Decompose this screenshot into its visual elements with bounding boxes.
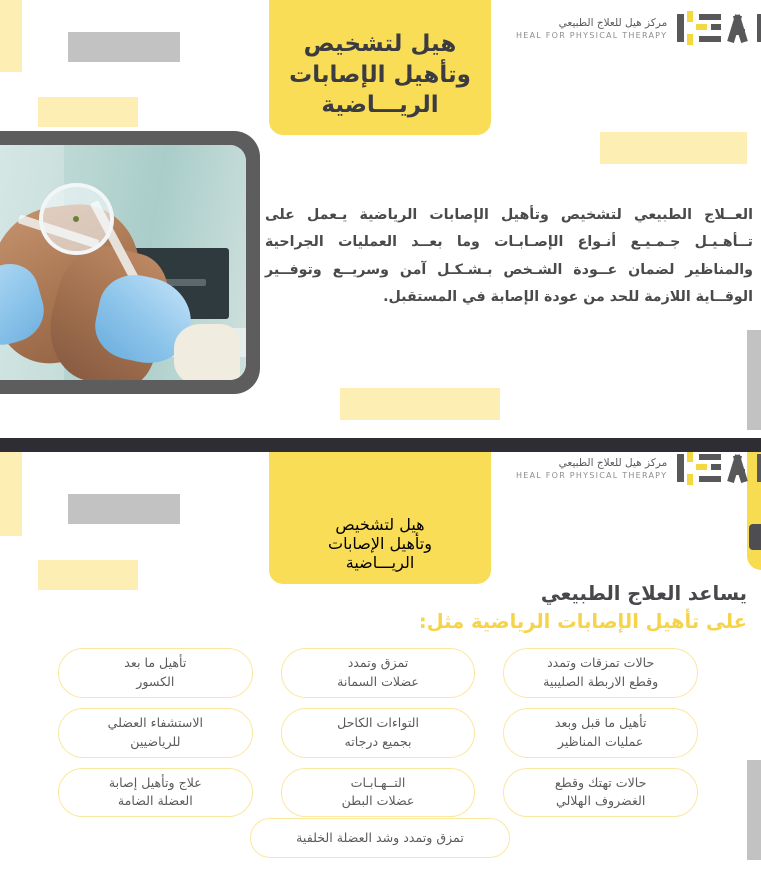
title-2-line-2: وتأهيل الإصابات	[328, 534, 432, 553]
condition-pill[interactable]: التــهـابـات عضلات البطن	[281, 768, 476, 818]
pill-line: تمزق وتمدد	[348, 654, 409, 673]
condition-pill[interactable]: تأهيل ما بعد الكسور	[58, 648, 253, 698]
pill-line: بجميع درجاته	[345, 733, 412, 752]
brand-tagline-en: HEAL FOR PHYSICAL THERAPY	[516, 31, 667, 40]
condition-pill[interactable]: الاستشفاء العضلي للرياضيين	[58, 708, 253, 758]
pill-line: تأهيل ما قبل وبعد	[555, 714, 647, 733]
condition-pill[interactable]: علاج وتأهيل إصابة العضلة الضامة	[58, 768, 253, 818]
pill-line: وقطع الاربطة الصليبية	[543, 673, 658, 692]
pill-line: الغضروف الهلالي	[556, 792, 645, 811]
condition-pill[interactable]: تمزق وتمدد عضلات السمانة	[281, 648, 476, 698]
decorative-pale-block-right	[600, 132, 747, 164]
brand-logo: مركز هيل للعلاج الطبيعي HEAL FOR PHYSICA…	[516, 12, 761, 44]
heal-logo-icon	[677, 12, 761, 44]
pill-line: تمزق وتمدد وشد العضلة الخلفية	[296, 829, 464, 848]
pill-line: العضلة الضامة	[118, 792, 193, 811]
pill-line: الاستشفاء العضلي	[108, 714, 203, 733]
decorative-gray-edge-right-2	[747, 760, 761, 860]
title-2-line-3: الريـــاضية	[346, 553, 415, 572]
intro-paragraph: العــلاج الطبيعي لتشخيص وتأهيل الإصابات …	[265, 202, 753, 311]
decorative-pale-block-bottom	[340, 388, 500, 420]
condition-pill[interactable]: حالات تمزقات وتمدد وقطع الاربطة الصليبية	[503, 648, 698, 698]
pill-line: التواءات الكاحل	[337, 714, 419, 733]
pill-line: علاج وتأهيل إصابة	[109, 774, 202, 793]
conditions-heading-line-2: على تأهيل الإصابات الرياضية مثل:	[267, 608, 747, 636]
conditions-heading-line-1: يساعد العلاج الطبيعي	[267, 580, 747, 608]
condition-pill-wide[interactable]: تمزق وتمدد وشد العضلة الخلفية	[250, 818, 510, 858]
section-intro: هيل لتشخيص وتأهيل الإصابات الريـــاضية	[0, 0, 761, 438]
decorative-gray-edge-right	[747, 330, 761, 430]
pill-line: الكسور	[136, 673, 174, 692]
section-conditions: هيل لتشخيص وتأهيل الإصابات الريـــاضية م	[0, 452, 761, 873]
decorative-pale-block-mid	[38, 97, 138, 127]
decorative-pale-bar-left-2	[0, 452, 22, 536]
brand-logo-text: مركز هيل للعلاج الطبيعي HEAL FOR PHYSICA…	[516, 17, 667, 40]
pill-line: حالات تهتك وقطع	[555, 774, 647, 793]
title-card-2: هيل لتشخيص وتأهيل الإصابات الريـــاضية	[269, 452, 491, 584]
title-line-2: وتأهيل الإصابات	[289, 60, 471, 91]
brand-tagline-ar: مركز هيل للعلاج الطبيعي	[516, 17, 667, 29]
condition-pill-wide-wrapper: تمزق وتمدد وشد العضلة الخلفية	[250, 818, 510, 858]
clinical-photo	[0, 145, 246, 380]
pill-line: تأهيل ما بعد	[124, 654, 186, 673]
brand-tagline-en-2: HEAL FOR PHYSICAL THERAPY	[516, 471, 667, 480]
title-card: هيل لتشخيص وتأهيل الإصابات الريـــاضية	[269, 0, 491, 135]
condition-pill[interactable]: التواءات الكاحل بجميع درجاته	[281, 708, 476, 758]
decorative-gray-placeholder-top	[68, 32, 180, 62]
pill-line: حالات تمزقات وتمدد	[547, 654, 654, 673]
condition-pill[interactable]: حالات تهتك وقطع الغضروف الهلالي	[503, 768, 698, 818]
decorative-pale-bar-left	[0, 0, 22, 72]
pill-line: عمليات المناظير	[558, 733, 644, 752]
title-line-3: الريـــاضية	[321, 90, 438, 121]
brand-logo-2: مركز هيل للعلاج الطبيعي HEAL FOR PHYSICA…	[516, 452, 761, 484]
pill-line: عضلات البطن	[342, 792, 415, 811]
pill-line: عضلات السمانة	[337, 673, 419, 692]
heal-logo-icon-2	[677, 452, 761, 484]
section-divider	[0, 438, 761, 452]
brand-logo-text-2: مركز هيل للعلاج الطبيعي HEAL FOR PHYSICA…	[516, 457, 667, 480]
decorative-pale-block-mid-2	[38, 560, 138, 590]
title-2-line-1: هيل لتشخيص	[335, 515, 424, 534]
brand-tagline-ar-2: مركز هيل للعلاج الطبيعي	[516, 457, 667, 469]
condition-pill[interactable]: تأهيل ما قبل وبعد عمليات المناظير	[503, 708, 698, 758]
infographic-page: هيل لتشخيص وتأهيل الإصابات الريـــاضية	[0, 0, 761, 873]
decorative-gray-placeholder-top-2	[68, 494, 180, 524]
conditions-heading: يساعد العلاج الطبيعي على تأهيل الإصابات …	[267, 580, 747, 635]
title-line-1: هيل لتشخيص	[304, 29, 457, 60]
photo-card	[0, 131, 260, 394]
decorative-gray-tab	[749, 524, 761, 550]
pill-line: التــهـابـات	[351, 774, 406, 793]
pill-line: للرياضيين	[130, 733, 180, 752]
goniometer-icon	[39, 183, 114, 256]
conditions-grid: حالات تمزقات وتمدد وقطع الاربطة الصليبية…	[58, 648, 698, 817]
